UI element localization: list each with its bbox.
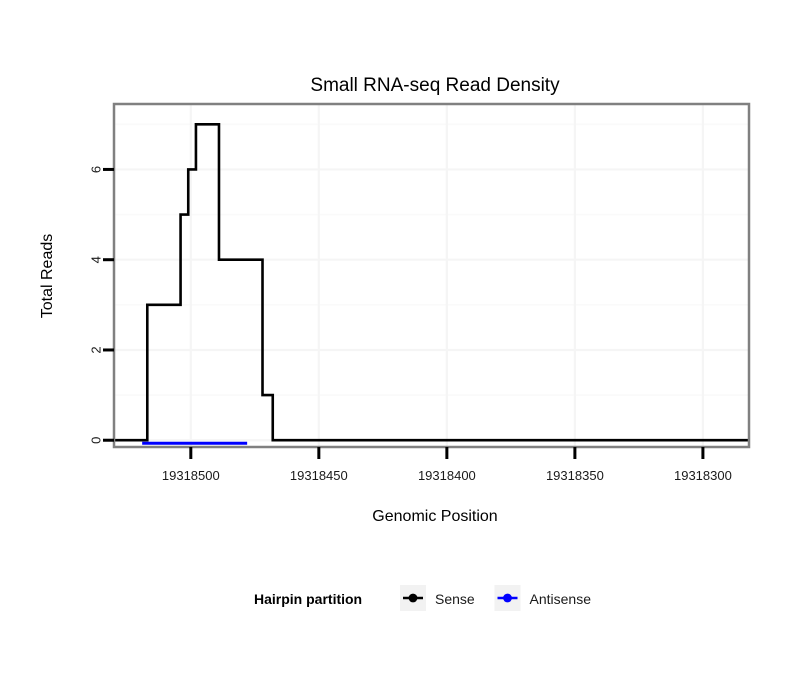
chart-container: Small RNA-seq Read Density 0246 19318500… — [0, 0, 810, 690]
read-density-chart: Small RNA-seq Read Density 0246 19318500… — [0, 0, 810, 690]
x-axis-tick-label: 19318350 — [546, 468, 604, 483]
y-axis-title: Total Reads — [39, 234, 56, 319]
legend-label-antisense[interactable]: Antisense — [530, 591, 592, 607]
legend-label-sense[interactable]: Sense — [435, 591, 475, 607]
y-axis-tick-label: 0 — [89, 437, 104, 444]
y-axis-tick-label: 2 — [89, 346, 104, 353]
legend-key-point-antisense — [503, 594, 512, 603]
legend-title: Hairpin partition — [254, 591, 362, 607]
x-axis-tick-label: 19318300 — [674, 468, 732, 483]
x-axis-title: Genomic Position — [372, 508, 497, 525]
x-axis-tick-label: 19318500 — [162, 468, 220, 483]
x-axis-tick-label: 19318400 — [418, 468, 476, 483]
x-axis-tick-label: 19318450 — [290, 468, 348, 483]
chart-title: Small RNA-seq Read Density — [310, 75, 560, 96]
legend-key-point-sense — [409, 594, 418, 603]
y-axis-tick-label: 6 — [89, 166, 104, 173]
y-axis-tick-label: 4 — [89, 256, 104, 263]
